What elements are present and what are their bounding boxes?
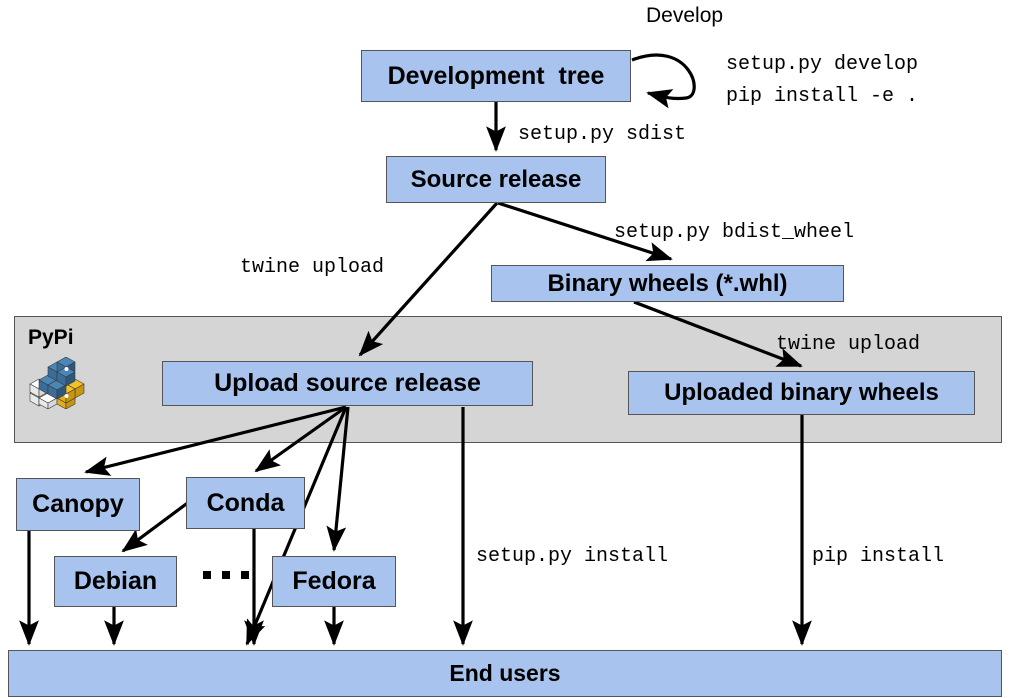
ellipsis-more-distros xyxy=(203,571,249,579)
node-label: Source release xyxy=(411,167,582,192)
node-label: End users xyxy=(449,661,560,685)
node-fedora[interactable]: Fedora xyxy=(272,556,396,607)
node-end-users[interactable]: End users xyxy=(8,650,1002,697)
node-label: Development tree xyxy=(388,63,605,89)
edge-label-pip-install-e: pip install -e . xyxy=(726,85,918,108)
edge-label-pip-install: pip install xyxy=(812,545,944,568)
diagram-canvas: PyPi xyxy=(0,0,1009,698)
edge-label-develop: Develop xyxy=(646,4,723,28)
edge-label-setup-bdist-wheel: setup.py bdist_wheel xyxy=(614,221,854,244)
node-conda[interactable]: Conda xyxy=(186,477,305,529)
node-canopy[interactable]: Canopy xyxy=(16,478,140,531)
edge-label-setup-install: setup.py install xyxy=(476,545,668,568)
node-label: Binary wheels (*.whl) xyxy=(547,271,787,296)
node-label: Debian xyxy=(74,568,157,594)
pypi-logo-icon xyxy=(27,357,85,409)
node-development-tree[interactable]: Development tree xyxy=(361,50,631,102)
ellipsis-dot xyxy=(222,571,230,579)
node-source-release[interactable]: Source release xyxy=(386,156,606,203)
node-binary-wheels[interactable]: Binary wheels (*.whl) xyxy=(491,265,844,302)
node-debian[interactable]: Debian xyxy=(54,556,177,607)
edge-label-setup-develop: setup.py develop xyxy=(726,53,918,76)
pypi-group-label: PyPi xyxy=(28,326,74,350)
node-upload-source-release[interactable]: Upload source release xyxy=(162,361,533,406)
ellipsis-dot xyxy=(241,571,249,579)
edge-label-setup-sdist: setup.py sdist xyxy=(518,123,686,146)
node-label: Conda xyxy=(207,490,285,516)
edge-develop-self-loop xyxy=(632,55,694,99)
node-uploaded-binary-wheels[interactable]: Uploaded binary wheels xyxy=(628,371,975,415)
node-label: Fedora xyxy=(292,568,375,594)
edge-label-twine-upload-whl: twine upload xyxy=(776,333,920,356)
edge-label-twine-upload-src: twine upload xyxy=(240,256,384,279)
ellipsis-dot xyxy=(203,571,211,579)
node-label: Canopy xyxy=(32,491,124,517)
node-label: Uploaded binary wheels xyxy=(664,380,939,405)
node-label: Upload source release xyxy=(214,370,481,396)
